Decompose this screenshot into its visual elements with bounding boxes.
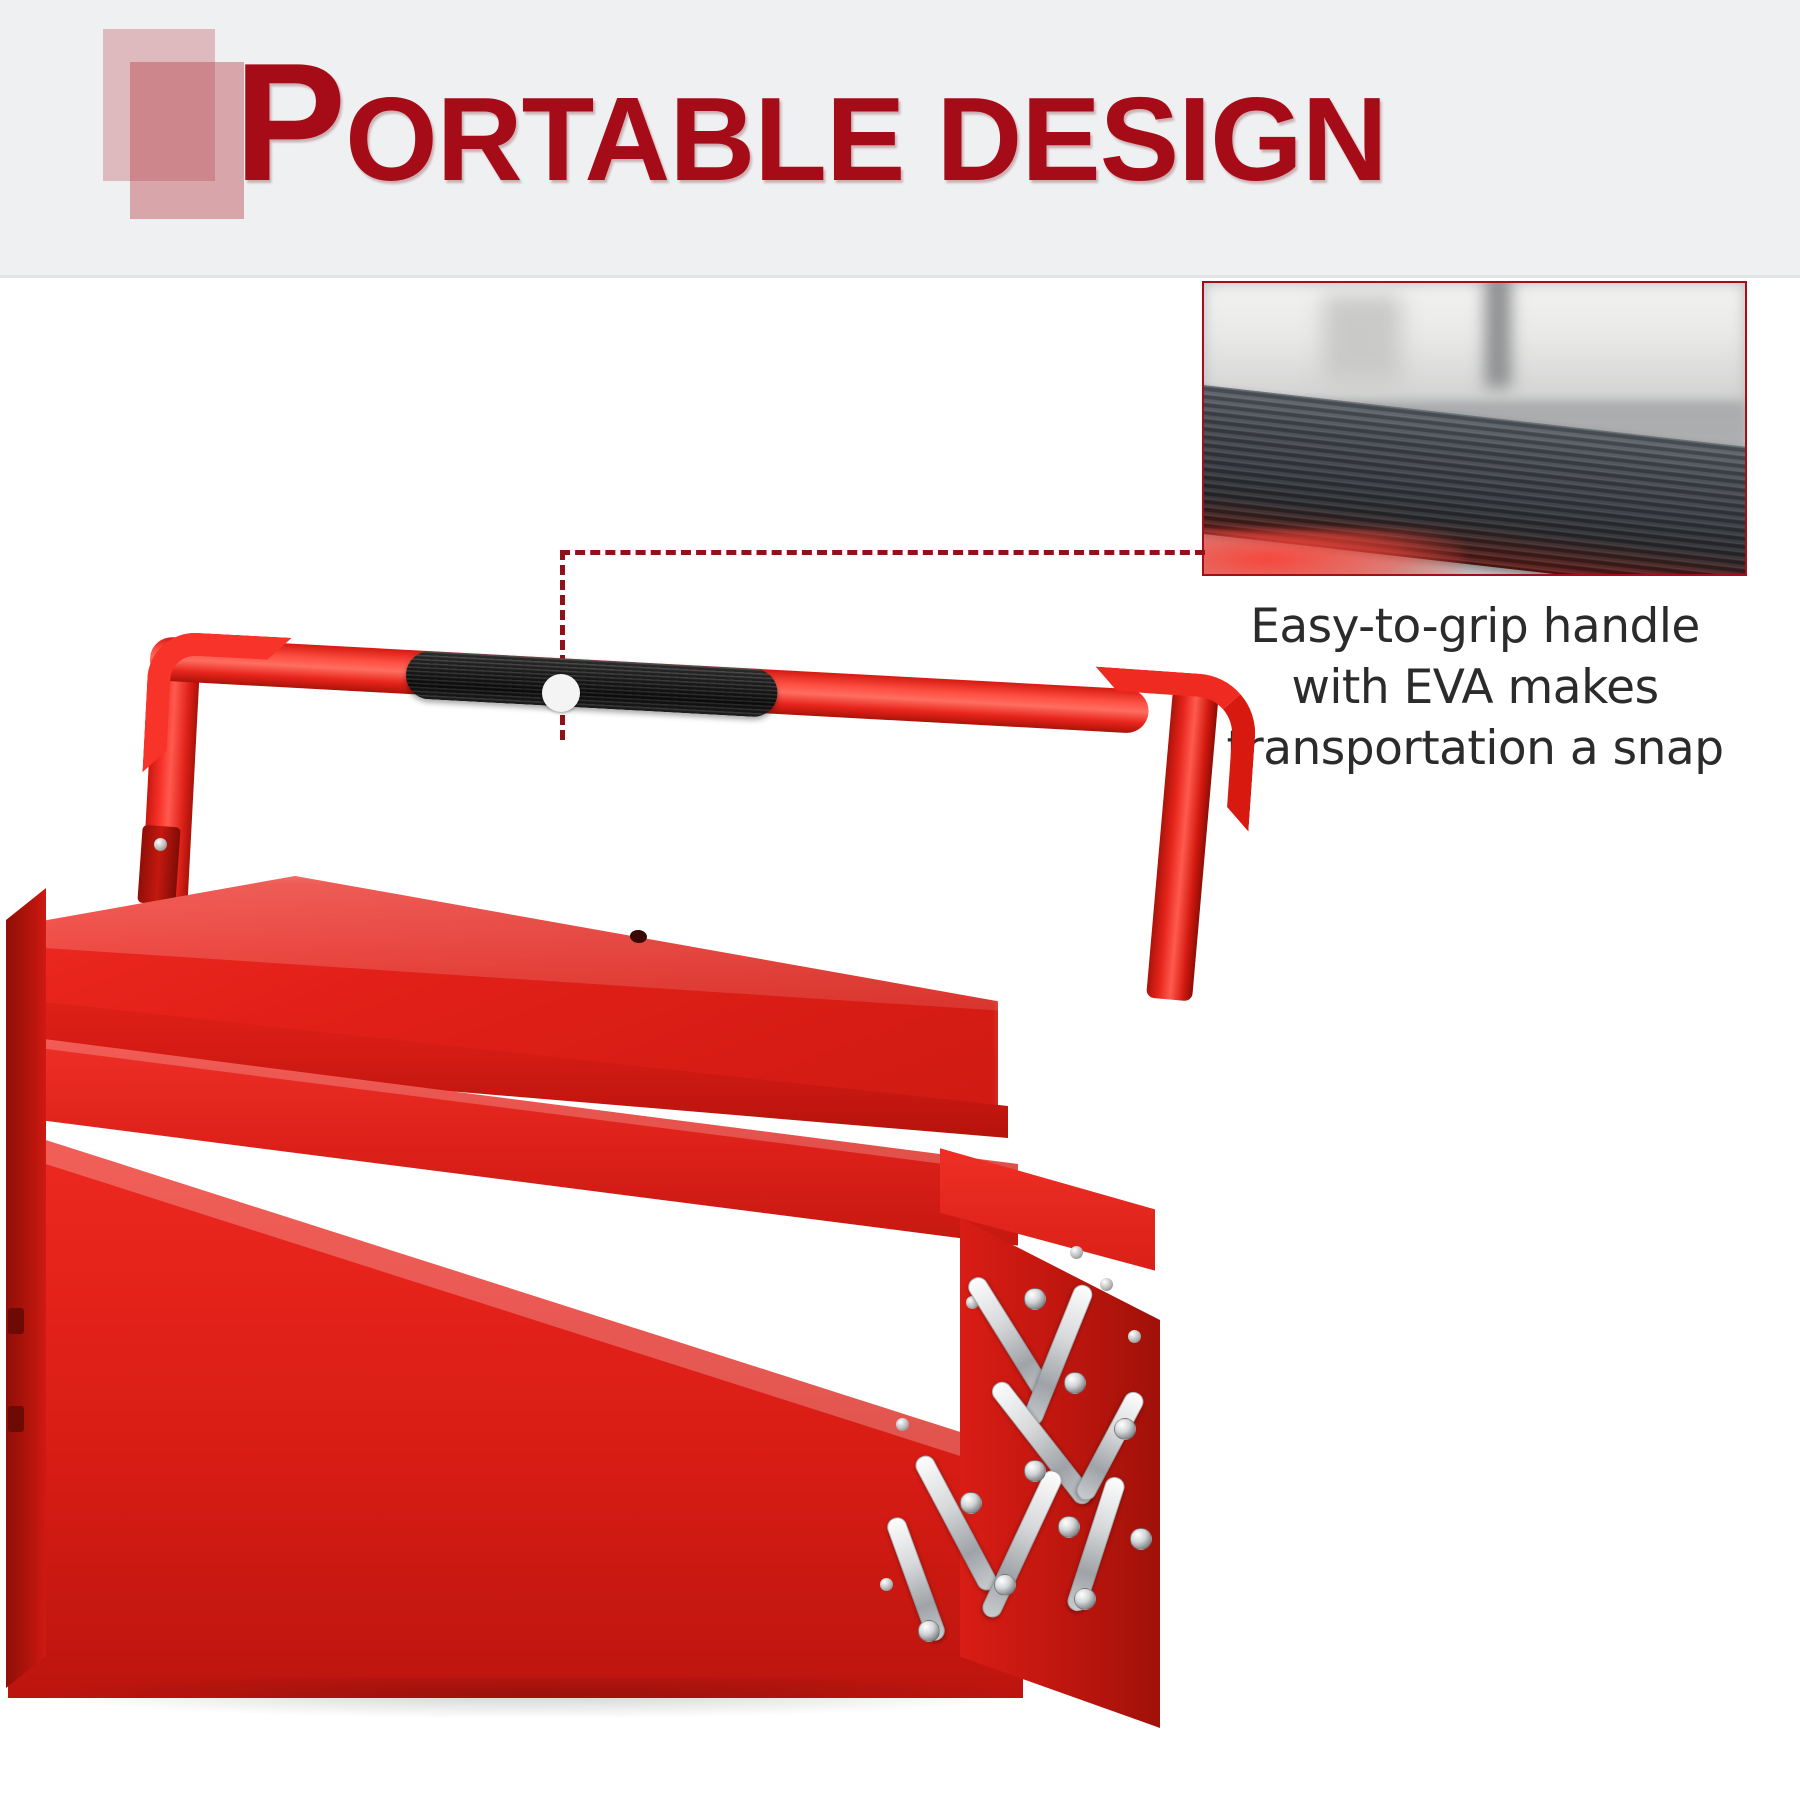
cantilever-rivet (1074, 1588, 1096, 1610)
cantilever-rivet (1130, 1528, 1152, 1550)
page-title: PORTABLE DESIGN (234, 38, 1387, 206)
cantilever-rivet (1064, 1372, 1086, 1394)
handle-pivot-rivet-left (154, 838, 167, 851)
cantilever-rivet (1024, 1288, 1046, 1310)
cantilever-rivet (918, 1620, 940, 1642)
handle-corner-right (1085, 666, 1259, 831)
cantilever-rivet (1024, 1460, 1046, 1482)
body-rivet (1070, 1246, 1083, 1259)
cantilever-rivet (960, 1492, 982, 1514)
inset-background-post (1485, 281, 1511, 388)
body-rivet (896, 1418, 909, 1431)
decorative-rect-front (130, 62, 244, 219)
body-rivet (880, 1578, 893, 1591)
cantilever-rivet (1058, 1516, 1080, 1538)
eva-grip-sleeve (405, 650, 779, 718)
side-latch-lower (8, 1406, 24, 1432)
body-rivet (1128, 1330, 1141, 1343)
callout-marker-dot (542, 674, 580, 712)
page-title-rest: ORTABLE DESIGN (345, 73, 1387, 206)
toolbox-left-end-cap (6, 888, 46, 1688)
cantilever-rivet (994, 1574, 1016, 1596)
body-rivet (1100, 1278, 1113, 1291)
handle-corner-left (142, 630, 291, 779)
product-image-toolbox: DURHAND (0, 278, 1400, 1800)
toolbox-ground-shadow (40, 1678, 1020, 1718)
header-banner: PORTABLE DESIGN (0, 0, 1800, 278)
handle-pivot-bracket-left (137, 825, 180, 905)
product-stage: Easy-to-grip handle with EVA makes trans… (0, 278, 1800, 1800)
page-title-initial: P (234, 28, 345, 216)
cantilever-rivet (1114, 1418, 1136, 1440)
side-latch-upper (8, 1308, 24, 1334)
